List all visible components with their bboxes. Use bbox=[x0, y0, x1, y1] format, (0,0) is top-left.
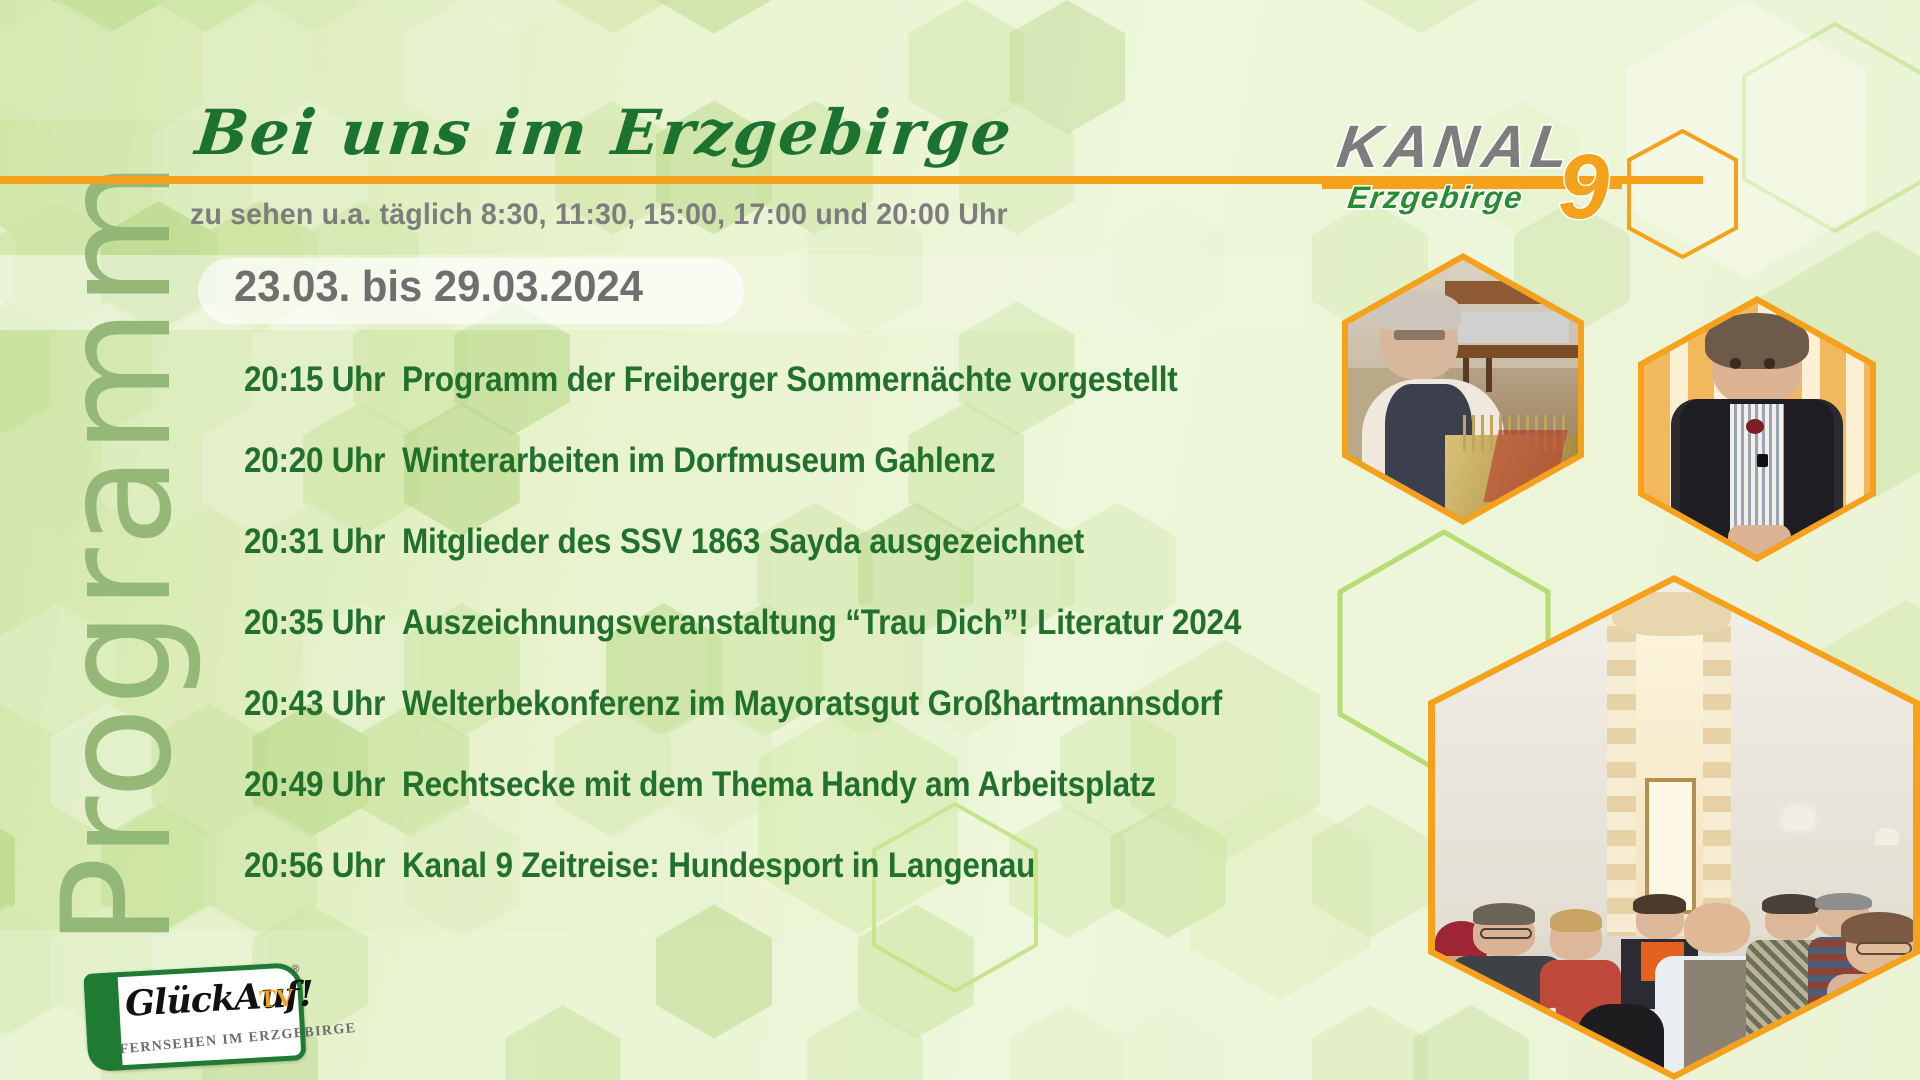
hex-outline-logo bbox=[1625, 128, 1740, 265]
kanal-wordmark: KANAL bbox=[1333, 112, 1578, 181]
date-range-text: 23.03. bis 29.03.2024 bbox=[234, 262, 643, 312]
logo-green-wedge bbox=[83, 972, 122, 1072]
program-title: Programm der Freiberger Sommernächte vor… bbox=[402, 360, 1178, 400]
program-row: 20:35 Uhr Auszeichnungsveranstaltung “Tr… bbox=[244, 603, 1374, 684]
tv-wordmark: TV bbox=[259, 984, 295, 1014]
erzgebirge-wordmark: Erzgebirge bbox=[1345, 180, 1525, 216]
program-title: Mitglieder des SSV 1863 Sayda ausgezeich… bbox=[402, 522, 1084, 562]
hex-cell bbox=[1312, 1005, 1428, 1080]
hex-cell bbox=[0, 201, 15, 335]
program-time: 20:15 Uhr bbox=[244, 360, 386, 400]
airtimes-text: zu sehen u.a. täglich 8:30, 11:30, 15:00… bbox=[190, 198, 1008, 232]
programm-vertical-label: Programm bbox=[31, 187, 205, 947]
program-time: 20:31 Uhr bbox=[244, 522, 386, 562]
hex-cell bbox=[807, 1005, 923, 1080]
hex-cell bbox=[1110, 1005, 1226, 1080]
hex-cell bbox=[252, 0, 368, 34]
hex-cell bbox=[505, 1005, 621, 1080]
kanal9-logo: KANAL Erzgebirge 9 bbox=[1330, 108, 1630, 238]
glueckauf-tv-logo: GlückAuf! TV ® FERNSEHEN IM ERZGEBIRGE bbox=[83, 962, 306, 1072]
program-title: Welterbekonferenz im Mayoratsgut Großhar… bbox=[402, 684, 1222, 724]
program-title: Kanal 9 Zeitreise: Hundesport in Langena… bbox=[402, 846, 1035, 886]
hex-cell bbox=[555, 0, 671, 34]
hex-cell bbox=[0, 0, 116, 134]
hex-cell bbox=[1362, 0, 1478, 34]
photo-studio-guest bbox=[1644, 303, 1870, 555]
broadcast-program-slate: Programm Bei uns im Erzgebirge zu sehen … bbox=[0, 0, 1920, 1080]
program-time: 20:43 Uhr bbox=[244, 684, 386, 724]
hex-cell bbox=[0, 1005, 15, 1080]
hex-cell bbox=[1110, 201, 1226, 335]
registered-mark: ® bbox=[291, 963, 300, 975]
program-time: 20:20 Uhr bbox=[244, 441, 386, 481]
hex-cell bbox=[454, 0, 570, 34]
page-title: Bei uns im Erzgebirge bbox=[192, 96, 1016, 169]
kanal-number-nine: 9 bbox=[1558, 148, 1609, 227]
hex-cell bbox=[1009, 1005, 1125, 1080]
hex-cell bbox=[353, 0, 469, 34]
program-list: 20:15 Uhr Programm der Freiberger Sommer… bbox=[244, 360, 1374, 927]
program-title: Auszeichnungsveranstaltung “Trau Dich”! … bbox=[402, 603, 1241, 643]
program-time: 20:35 Uhr bbox=[244, 603, 386, 643]
hex-cell bbox=[0, 804, 15, 938]
hex-cell bbox=[656, 0, 772, 34]
photo-frame-basket-weaver bbox=[1342, 253, 1584, 525]
program-time: 20:56 Uhr bbox=[244, 846, 386, 886]
program-row: 20:56 Uhr Kanal 9 Zeitreise: Hundesport … bbox=[244, 846, 1374, 927]
hex-cell bbox=[1413, 1005, 1529, 1080]
program-title: Rechtsecke mit dem Thema Handy am Arbeit… bbox=[402, 765, 1156, 805]
hex-cell bbox=[1009, 0, 1125, 134]
program-row: 20:15 Uhr Programm der Freiberger Sommer… bbox=[244, 360, 1374, 441]
program-row: 20:43 Uhr Welterbekonferenz im Mayoratsg… bbox=[244, 684, 1374, 765]
hex-cell bbox=[50, 0, 166, 34]
photo-basket-weaver bbox=[1348, 260, 1578, 518]
program-row: 20:20 Uhr Winterarbeiten im Dorfmuseum G… bbox=[244, 441, 1374, 522]
hex-cell bbox=[151, 0, 267, 34]
program-row: 20:49 Uhr Rechtsecke mit dem Thema Handy… bbox=[244, 765, 1374, 846]
program-time: 20:49 Uhr bbox=[244, 765, 386, 805]
program-title: Winterarbeiten im Dorfmuseum Gahlenz bbox=[402, 441, 996, 481]
program-row: 20:31 Uhr Mitglieder des SSV 1863 Sayda … bbox=[244, 522, 1374, 603]
